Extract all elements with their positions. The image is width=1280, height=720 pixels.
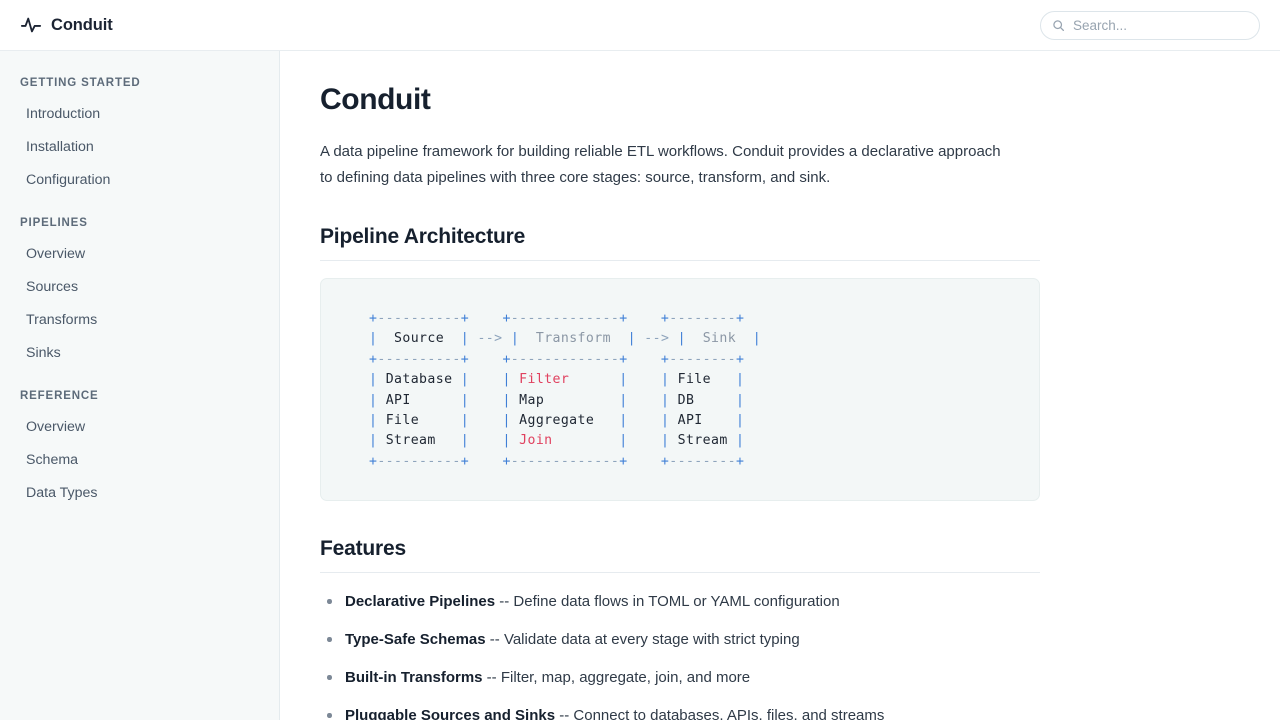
- feature-list-item: Built-in Transforms -- Filter, map, aggr…: [320, 667, 1240, 689]
- sidebar-section-getting-started: GETTING STARTED Introduction Installatio…: [0, 77, 279, 197]
- features-section: Features Declarative Pipelines -- Define…: [320, 537, 1240, 720]
- sidebar-item-pipelines-overview[interactable]: Overview: [0, 238, 279, 271]
- brand-logo[interactable]: Conduit: [20, 14, 113, 36]
- activity-pulse-icon: [20, 14, 42, 36]
- feature-term: Built-in Transforms: [345, 669, 483, 686]
- page-title: Conduit: [320, 83, 1240, 117]
- sidebar-section-title: REFERENCE: [0, 390, 279, 402]
- sidebar-item-introduction[interactable]: Introduction: [0, 98, 279, 131]
- feature-term: Pluggable Sources and Sinks: [345, 707, 555, 720]
- feature-list-item: Type-Safe Schemas -- Validate data at ev…: [320, 629, 1240, 651]
- feature-list-item: Pluggable Sources and Sinks -- Connect t…: [320, 705, 1240, 720]
- sidebar-item-configuration[interactable]: Configuration: [0, 164, 279, 197]
- feature-separator: --: [495, 593, 513, 610]
- feature-description: Filter, map, aggregate, join, and more: [501, 669, 750, 686]
- sidebar-navigation: GETTING STARTED Introduction Installatio…: [0, 51, 280, 720]
- sidebar-section-pipelines: PIPELINES Overview Sources Transforms Si…: [0, 217, 279, 370]
- intro-paragraph: A data pipeline framework for building r…: [320, 139, 1010, 191]
- feature-separator: --: [483, 669, 501, 686]
- ascii-pipeline-diagram: +----------+ +-------------+ +--------+ …: [369, 309, 1039, 472]
- feature-list: Declarative Pipelines -- Define data flo…: [320, 591, 1240, 720]
- search-box[interactable]: [1040, 11, 1260, 40]
- top-header-bar: Conduit: [0, 0, 1280, 51]
- sidebar-section-reference: REFERENCE Overview Schema Data Types: [0, 390, 279, 510]
- feature-description: Define data flows in TOML or YAML config…: [513, 593, 839, 610]
- sidebar-item-sinks[interactable]: Sinks: [0, 337, 279, 370]
- sidebar-item-installation[interactable]: Installation: [0, 131, 279, 164]
- search-icon: [1052, 19, 1065, 32]
- pipeline-architecture-section: Pipeline Architecture +----------+ +----…: [320, 225, 1240, 501]
- sidebar-item-sources[interactable]: Sources: [0, 271, 279, 304]
- feature-separator: --: [486, 631, 504, 648]
- feature-list-item: Declarative Pipelines -- Define data flo…: [320, 591, 1240, 613]
- section-heading-pipeline-architecture: Pipeline Architecture: [320, 225, 1040, 261]
- feature-description: Validate data at every stage with strict…: [504, 631, 800, 648]
- feature-separator: --: [555, 707, 573, 720]
- sidebar-item-transforms[interactable]: Transforms: [0, 304, 279, 337]
- feature-description: Connect to databases, APIs, files, and s…: [573, 707, 884, 720]
- sidebar-item-schema[interactable]: Schema: [0, 444, 279, 477]
- sidebar-section-title: PIPELINES: [0, 217, 279, 229]
- search-input[interactable]: [1073, 18, 1243, 33]
- ascii-diagram-code-block: +----------+ +-------------+ +--------+ …: [320, 278, 1040, 501]
- main-content: Conduit A data pipeline framework for bu…: [280, 51, 1280, 720]
- feature-term: Type-Safe Schemas: [345, 631, 486, 648]
- feature-term: Declarative Pipelines: [345, 593, 495, 610]
- brand-name: Conduit: [51, 16, 113, 35]
- sidebar-item-reference-overview[interactable]: Overview: [0, 411, 279, 444]
- section-heading-features: Features: [320, 537, 1040, 573]
- sidebar-item-data-types[interactable]: Data Types: [0, 477, 279, 510]
- sidebar-section-title: GETTING STARTED: [0, 77, 279, 89]
